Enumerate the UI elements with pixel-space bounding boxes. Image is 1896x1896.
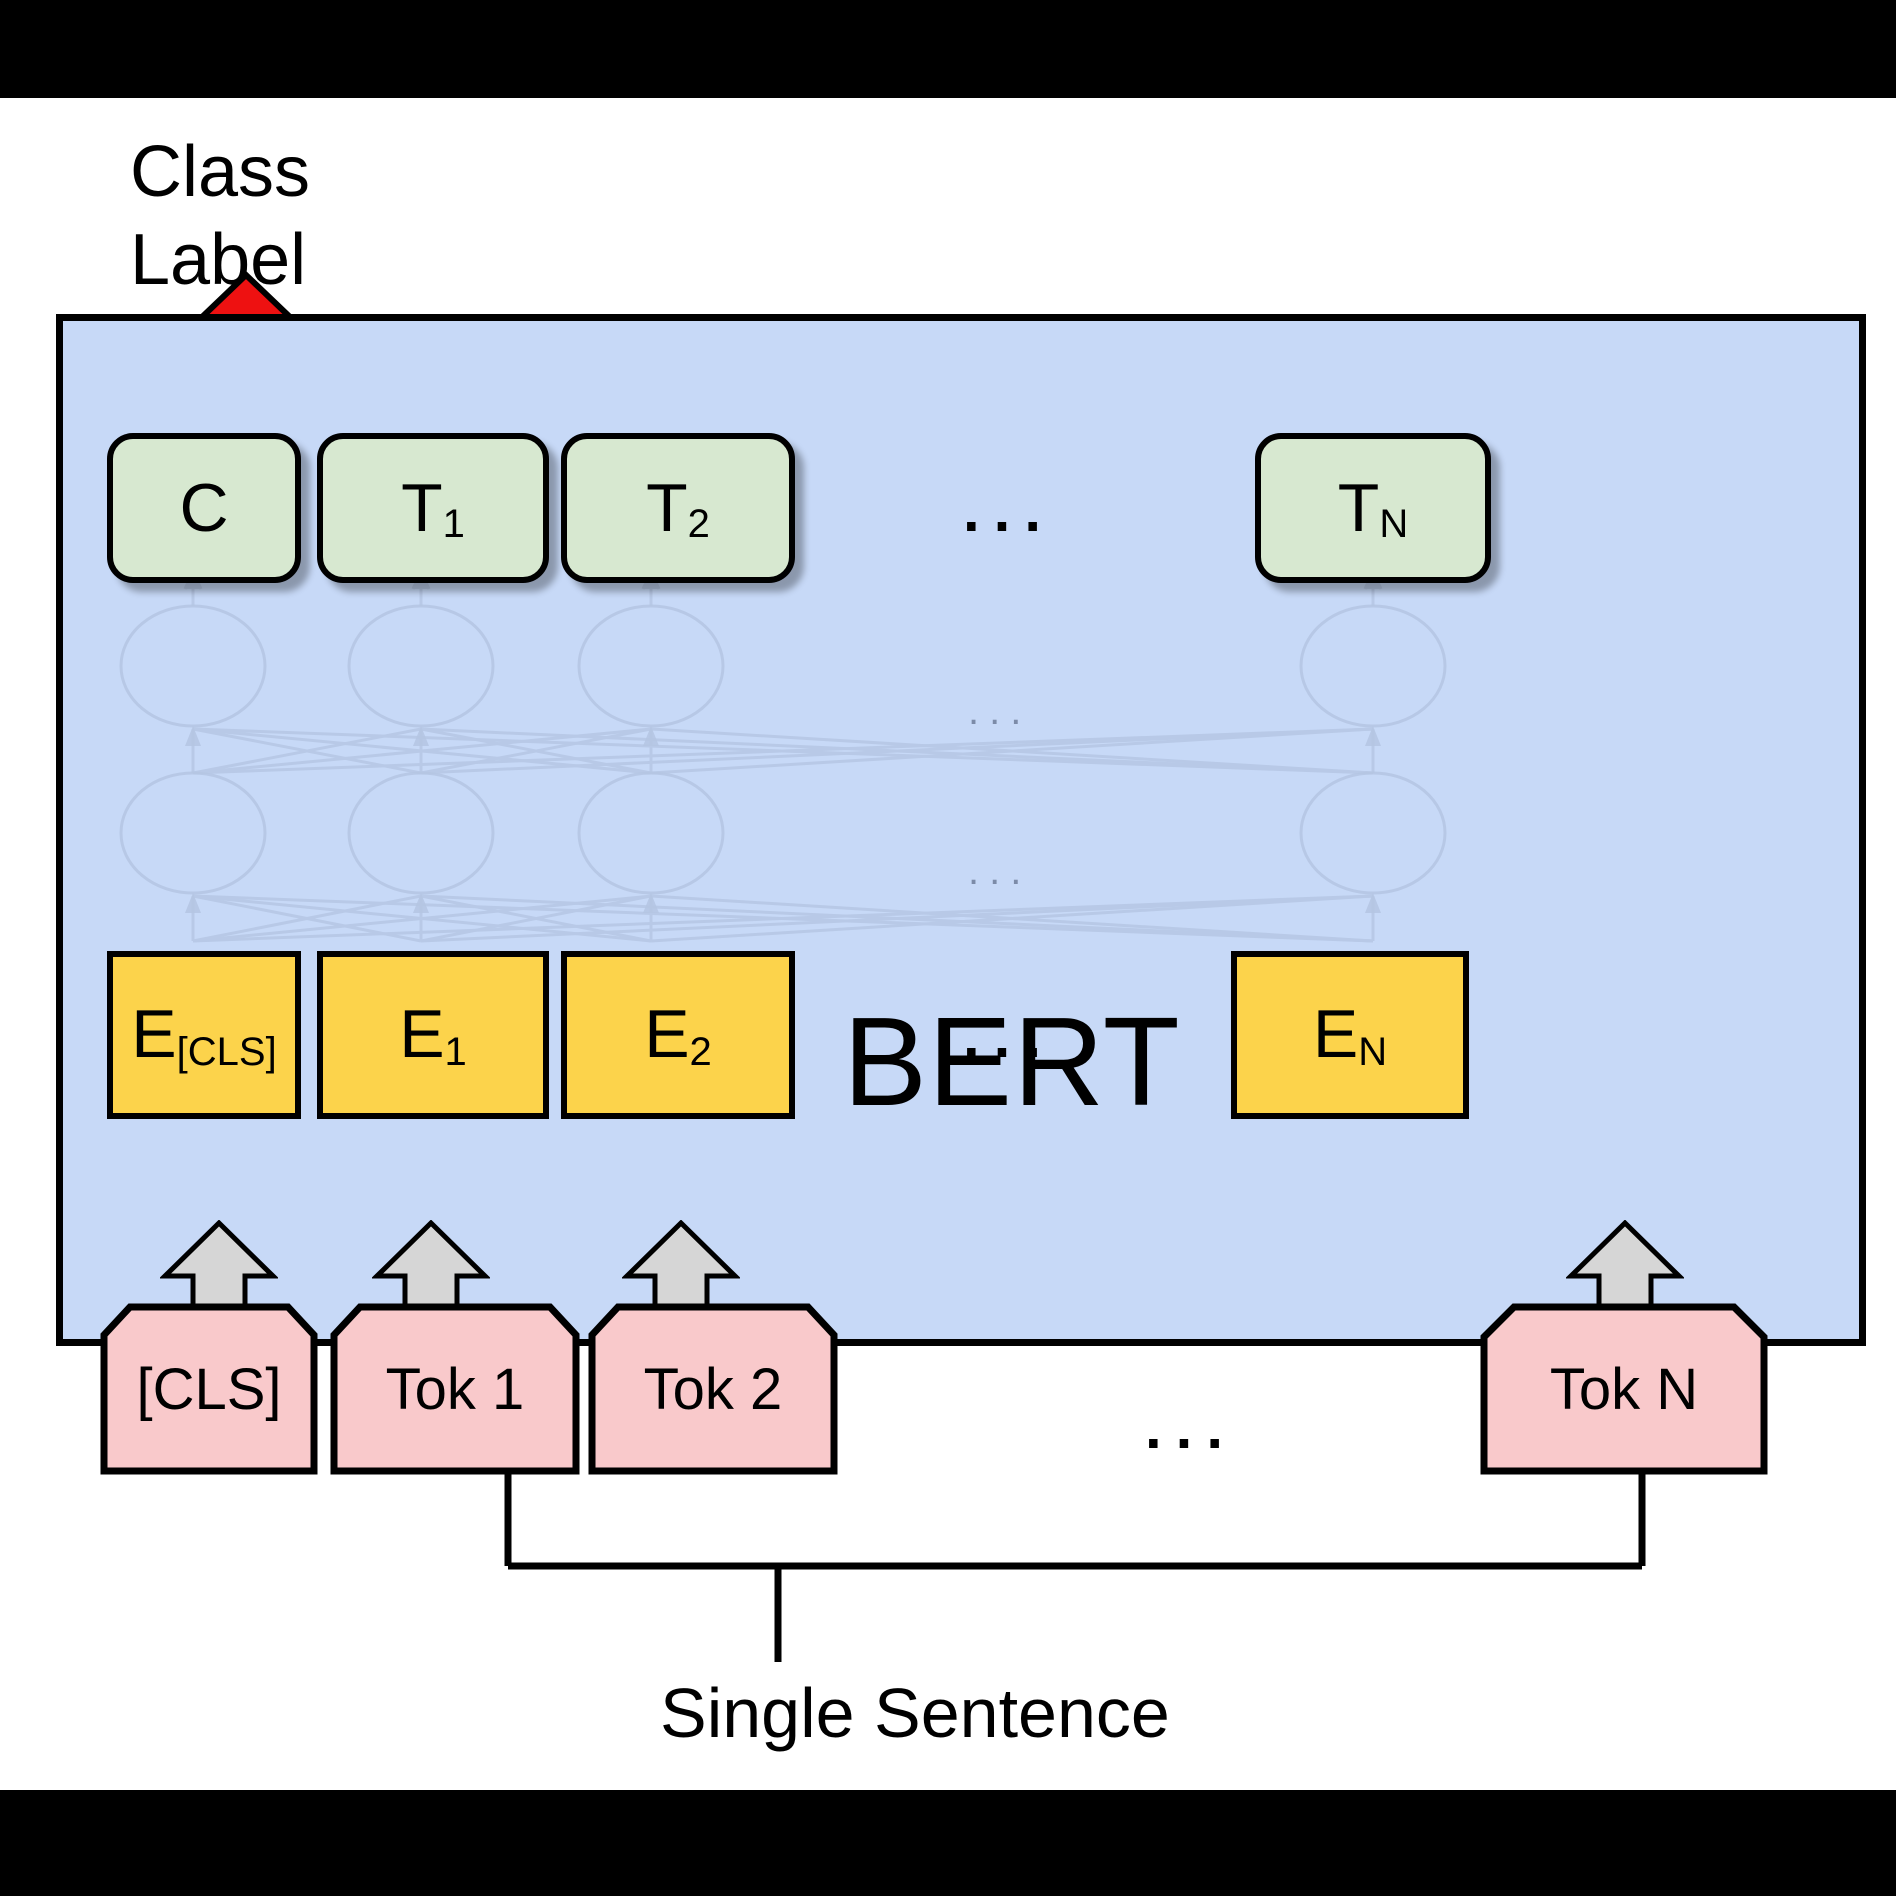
sentence-bracket-connector xyxy=(490,1448,1690,1703)
token-cls-label: [CLS] xyxy=(136,1356,281,1423)
embedding-e2[interactable]: E2 xyxy=(561,951,795,1119)
output-token-t2[interactable]: T2 xyxy=(561,433,795,583)
inner-ellipsis-lower: ... xyxy=(968,849,1031,894)
output-token-tn-label: TN xyxy=(1338,469,1408,547)
token-tokn-label: Tok N xyxy=(1550,1356,1698,1423)
embedding-e2-label: E2 xyxy=(644,995,712,1075)
embedding-en-label: EN xyxy=(1313,995,1387,1075)
output-token-t1-label: T1 xyxy=(401,469,465,547)
embedding-e1-label: E1 xyxy=(399,995,467,1075)
embedding-en[interactable]: EN xyxy=(1231,951,1469,1119)
embedding-e1[interactable]: E1 xyxy=(317,951,549,1119)
token-tok1-label: Tok 1 xyxy=(386,1356,525,1423)
inner-ellipsis-upper: ... xyxy=(968,689,1031,734)
bert-encoder-box: ... ... BERT C T1 T2 TN ... xyxy=(56,314,1866,1346)
letterbox-bottom-bar xyxy=(0,1790,1896,1896)
output-token-t1[interactable]: T1 xyxy=(317,433,549,583)
output-token-t2-label: T2 xyxy=(646,469,710,547)
output-token-tn[interactable]: TN xyxy=(1255,433,1491,583)
embedding-row-ellipsis: ... xyxy=(963,1007,1055,1067)
embedding-cls-label: E[CLS] xyxy=(131,995,276,1075)
diagram-canvas: Class Label xyxy=(0,98,1896,1790)
output-token-c[interactable]: C xyxy=(107,433,301,583)
token-cls[interactable]: [CLS] xyxy=(100,1303,318,1475)
letterbox-top-bar xyxy=(0,0,1896,98)
output-row-ellipsis: ... xyxy=(963,481,1055,541)
token-tok2-label: Tok 2 xyxy=(644,1356,783,1423)
single-sentence-label: Single Sentence xyxy=(660,1673,1170,1753)
output-token-c-label: C xyxy=(179,469,228,547)
embedding-cls[interactable]: E[CLS] xyxy=(107,951,301,1119)
